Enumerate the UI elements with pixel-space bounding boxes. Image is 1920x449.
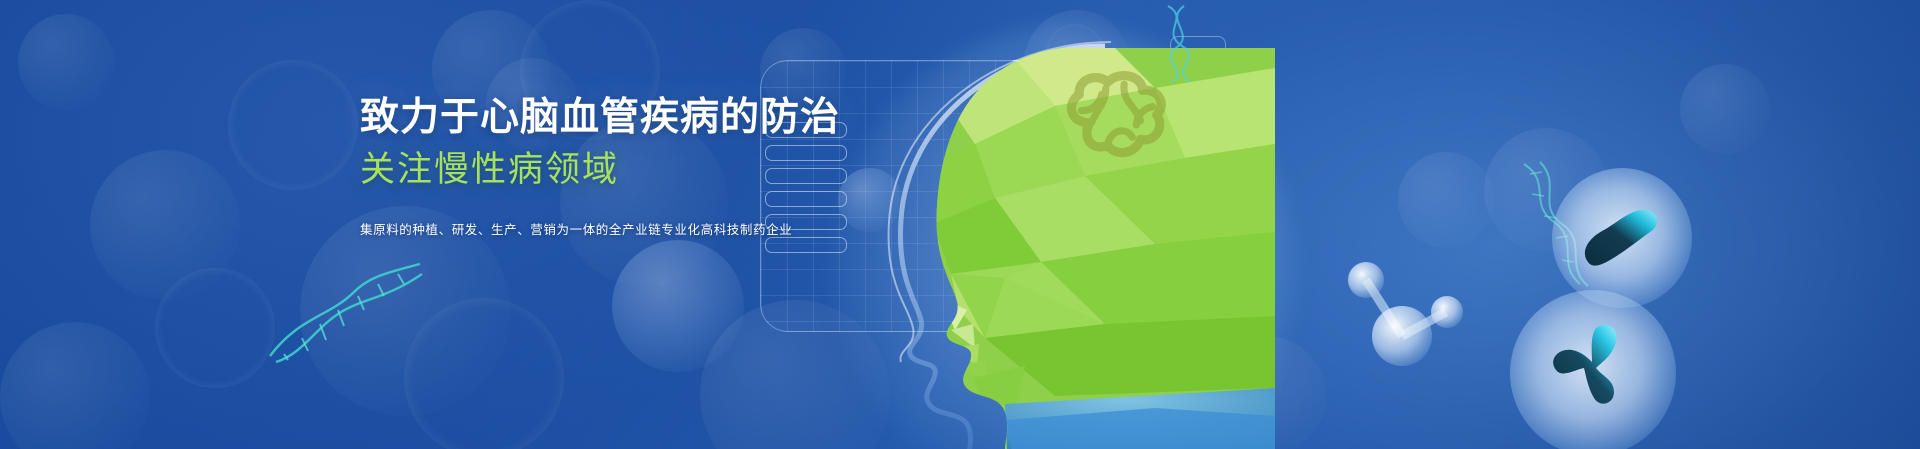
dna-helix-left-icon <box>262 258 427 368</box>
hero-banner: 致力于心脑血管疾病的防治 关注慢性病领域 集原料的种植、研发、生产、营销为一体的… <box>0 0 1920 449</box>
banner-copy: 致力于心脑血管疾病的防治 关注慢性病领域 集原料的种植、研发、生产、营销为一体的… <box>360 96 780 238</box>
bokeh-bubble <box>0 322 150 449</box>
headline-prefix: 致力于 <box>360 96 480 139</box>
bokeh-bubble <box>1398 152 1494 248</box>
bokeh-bubble <box>155 268 275 388</box>
bacteria-rod-lower-icon <box>1548 318 1648 414</box>
dna-helix-top-right-icon <box>1150 4 1212 82</box>
bokeh-bubble <box>1680 64 1770 154</box>
page-tagline: 集原料的种植、研发、生产、营销为一体的全产业链专业化高科技制药企业 <box>360 219 780 238</box>
headline-accent: 心脑血管疾病 <box>480 96 720 139</box>
bacteria-rod-upper-icon <box>1578 200 1664 272</box>
bokeh-bubble <box>612 240 744 372</box>
bokeh-bubble <box>90 150 240 300</box>
headline-suffix: 的防治 <box>720 96 840 139</box>
bokeh-bubble <box>228 60 358 190</box>
page-title: 致力于心脑血管疾病的防治 <box>360 96 780 140</box>
molecule-icon <box>1330 250 1480 380</box>
bokeh-bubble <box>18 14 114 110</box>
page-subtitle: 关注慢性病领域 <box>360 151 780 190</box>
bokeh-bubble <box>404 298 564 449</box>
low-poly-head-figure <box>855 48 1275 449</box>
